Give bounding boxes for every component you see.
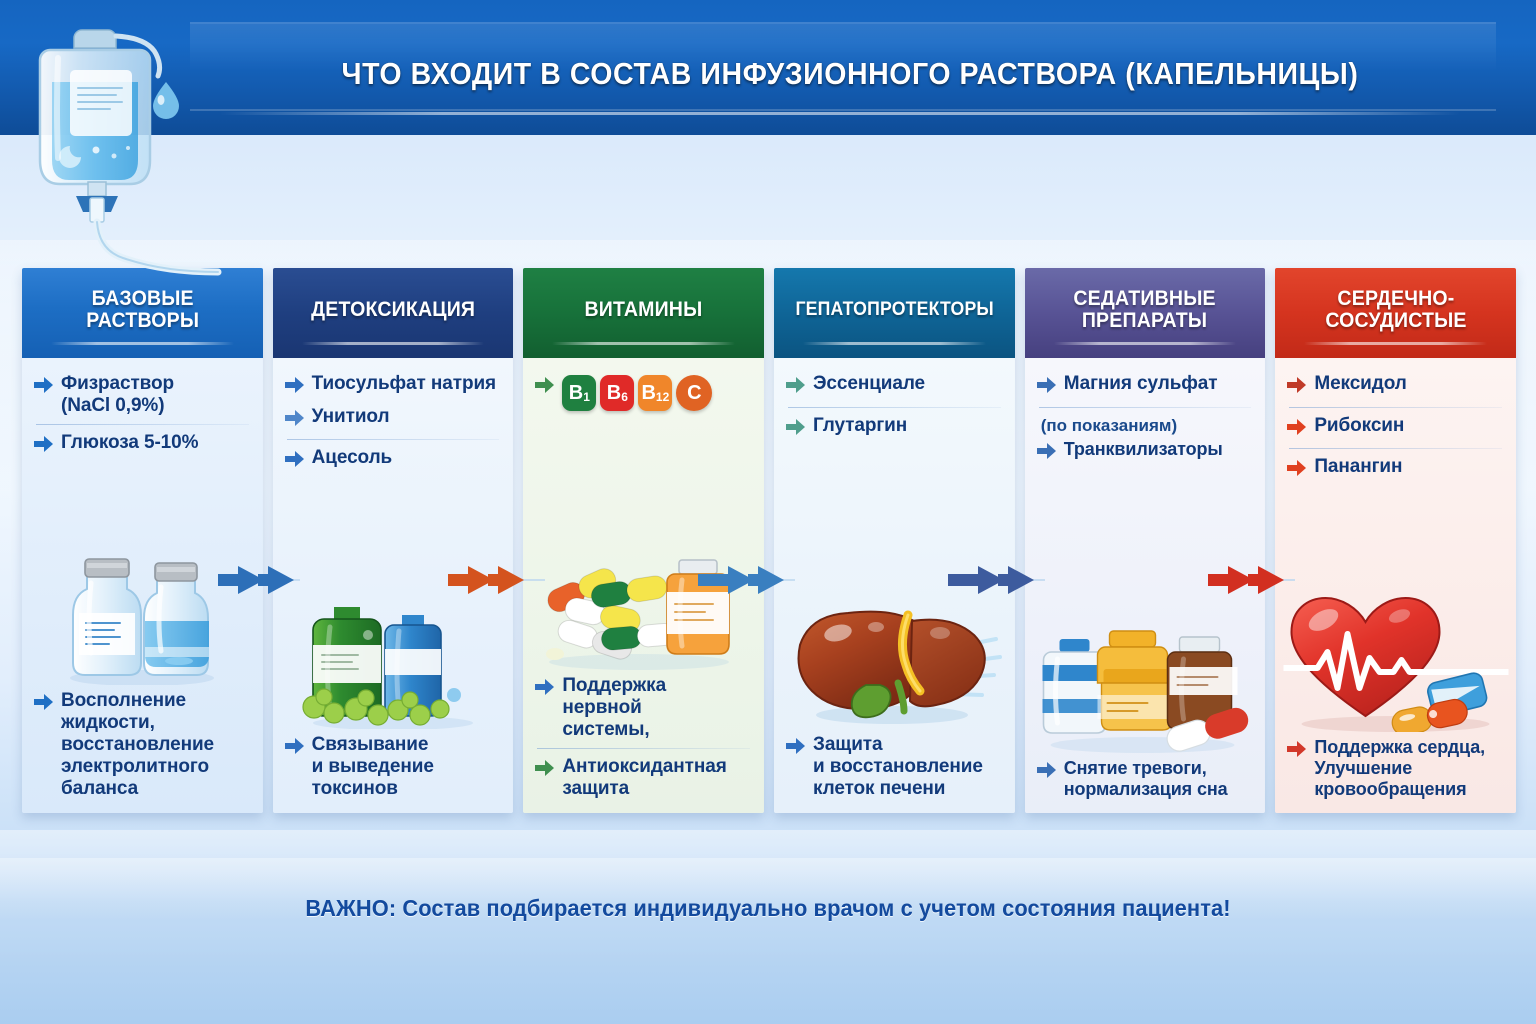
- list-item-label: Транквилизаторы: [1064, 439, 1223, 460]
- header-highlight: [302, 342, 485, 345]
- column-detoksikaciya[interactable]: ДЕТОКСИКАЦИЯ Тиосульфат натрия: [273, 268, 514, 813]
- column-bazovye-rastvory[interactable]: БАЗОВЫЕ РАСТВОРЫ Физраствор (NaCl 0,9%): [22, 268, 263, 813]
- header-highlight: [1054, 342, 1237, 345]
- arrow-bullet-icon: [786, 376, 806, 400]
- arrow-bullet-icon: [1037, 761, 1057, 785]
- column-header-bazovye-rastvory: БАЗОВЫЕ РАСТВОРЫ: [22, 268, 263, 358]
- benefit-item: Поддержка нервной системы,: [535, 672, 752, 744]
- column-body-serdechno-sosudistye: Мексидол Рибоксин Панангин: [1275, 358, 1516, 813]
- benefit-label: Снятие тревоги, нормализация сна: [1064, 758, 1228, 800]
- benefit-item: Связывание и выведение токсинов: [285, 731, 502, 803]
- benefit-item: Поддержка сердца, Улучшение кровообращен…: [1287, 734, 1504, 803]
- arrow-bullet-icon: [34, 435, 54, 459]
- list-item[interactable]: Транквилизаторы: [1037, 436, 1254, 469]
- divider: [788, 407, 1001, 408]
- vitamin-badge-b1: B1: [562, 375, 596, 411]
- arrow-bullet-icon: [786, 418, 806, 442]
- column-footer-bazovye-rastvory: Восполнение жидкости, восстановление эле…: [34, 687, 251, 803]
- liver-icon: [786, 446, 1003, 729]
- header-highlight: [803, 342, 986, 345]
- column-vitaminy[interactable]: ВИТАМИНЫ B1 B6 B12 C: [523, 268, 764, 813]
- divider: [1289, 448, 1502, 449]
- column-title: СЕРДЕЧНО- СОСУДИСТЫЕ: [1325, 288, 1466, 333]
- list-item[interactable]: Мексидол: [1287, 370, 1504, 403]
- list-item-label: Эссенциале: [813, 373, 925, 395]
- list-item[interactable]: Эссенциале: [786, 370, 1003, 403]
- list-item-label: Глюкоза 5-10%: [61, 432, 198, 454]
- list-item[interactable]: Ацесоль: [285, 444, 502, 477]
- column-header-vitaminy: ВИТАМИНЫ: [523, 268, 764, 358]
- benefit-item: Восполнение жидкости, восстановление эле…: [34, 687, 251, 803]
- arrow-bullet-icon: [535, 678, 555, 702]
- column-body-bazovye-rastvory: Физраствор (NaCl 0,9%) Глюкоза 5-10%: [22, 358, 263, 813]
- benefit-item: Антиоксидантная защита: [535, 753, 752, 803]
- column-sedativnye-preparaty[interactable]: СЕДАТИВНЫЕ ПРЕПАРАТЫ Магния сульфат (по …: [1025, 268, 1266, 813]
- column-gepatoprotektory[interactable]: ГЕПАТОПРОТЕКТОРЫ Эссенциале: [774, 268, 1015, 813]
- header-highlight: [1304, 342, 1487, 345]
- vitamin-badge-c: C: [676, 375, 712, 411]
- divider: [36, 424, 249, 425]
- infographic-canvas: ЧТО ВХОДИТ В СОСТАВ ИНФУЗИОННОГО РАСТВОР…: [0, 0, 1536, 1024]
- column-title: СЕДАТИВНЫЕ ПРЕПАРАТЫ: [1074, 288, 1216, 333]
- detox-bottles-icon: [285, 479, 502, 729]
- iv-drip-bag-icon: [18, 8, 228, 278]
- arrow-bullet-icon: [34, 693, 54, 717]
- arrow-bullet-icon: [1287, 740, 1307, 764]
- column-title: ДЕТОКСИКАЦИЯ: [311, 299, 475, 321]
- arrow-bullet-icon: [535, 759, 555, 783]
- column-title: ГЕПАТОПРОТЕКТОРЫ: [795, 300, 993, 320]
- divider: [537, 748, 750, 749]
- vitamin-badge-b6: B6: [600, 375, 634, 411]
- list-item[interactable]: Глутаргин: [786, 412, 1003, 445]
- arrow-bullet-icon: [535, 376, 555, 400]
- column-footer-vitaminy: Поддержка нервной системы, Антиоксидантн…: [535, 672, 752, 803]
- column-body-detoksikaciya: Тиосульфат натрия Унитиол Ацесоль: [273, 358, 514, 813]
- column-footer-gepatoprotektory: Защита и восстановление клеток печени: [786, 731, 1003, 803]
- arrow-bullet-icon: [285, 450, 305, 474]
- column-footer-serdechno-sosudistye: Поддержка сердца, Улучшение кровообращен…: [1287, 734, 1504, 803]
- arrow-bullet-icon: [1287, 376, 1307, 400]
- column-footer-sedativnye-preparaty: Снятие тревоги, нормализация сна: [1037, 755, 1254, 803]
- arrow-bullet-icon: [285, 376, 305, 400]
- vitamin-badge-b12: B12: [638, 375, 672, 411]
- list-item-label: Унитиол: [312, 406, 390, 428]
- benefit-item: Защита и восстановление клеток печени: [786, 731, 1003, 803]
- column-header-detoksikaciya: ДЕТОКСИКАЦИЯ: [273, 268, 514, 358]
- list-item-label: Тиосульфат натрия: [312, 373, 496, 395]
- header-highlight: [552, 342, 735, 345]
- benefit-label: Связывание и выведение токсинов: [312, 734, 434, 800]
- list-item[interactable]: Унитиол: [285, 403, 502, 436]
- drug-list: Тиосульфат натрия Унитиол Ацесоль: [285, 370, 502, 477]
- list-item-label: Ацесоль: [312, 447, 392, 469]
- list-item[interactable]: Глюкоза 5-10%: [34, 429, 251, 462]
- page-title: ЧТО ВХОДИТ В СОСТАВ ИНФУЗИОННОГО РАСТВОР…: [257, 56, 1444, 92]
- divider: [1039, 407, 1252, 408]
- list-item[interactable]: B1 B6 B12 C: [535, 370, 752, 414]
- arrow-bullet-icon: [1287, 418, 1307, 442]
- benefit-label: Восполнение жидкости, восстановление эле…: [61, 690, 214, 800]
- arrow-bullet-icon: [1037, 442, 1057, 466]
- vitamin-badge-list: B1 B6 B12 C: [535, 370, 752, 414]
- arrow-bullet-icon: [285, 737, 305, 761]
- list-item-label: Физраствор (NaCl 0,9%): [61, 373, 174, 417]
- list-item-label: Рибоксин: [1314, 415, 1404, 437]
- list-item-label: Магния сульфат: [1064, 373, 1218, 395]
- drug-list: Эссенциале Глутаргин: [786, 370, 1003, 444]
- benefit-item: Снятие тревоги, нормализация сна: [1037, 755, 1254, 803]
- column-title: ВИТАМИНЫ: [585, 299, 703, 321]
- benefit-label: Поддержка сердца, Улучшение кровообращен…: [1314, 737, 1485, 800]
- important-note: ВАЖНО: Состав подбирается индивидуально …: [38, 895, 1497, 922]
- drug-list: Физраствор (NaCl 0,9%) Глюкоза 5-10%: [34, 370, 251, 462]
- header-highlight: [51, 342, 234, 345]
- benefit-label: Защита и восстановление клеток печени: [813, 734, 983, 800]
- list-item[interactable]: Тиосульфат натрия: [285, 370, 502, 403]
- divider: [1289, 407, 1502, 408]
- indication-note: (по показаниям): [1037, 412, 1254, 436]
- arrow-bullet-icon: [34, 376, 54, 400]
- list-item[interactable]: Физраствор (NaCl 0,9%): [34, 370, 251, 420]
- list-item-label: Мексидол: [1314, 373, 1406, 395]
- arrow-bullet-icon: [786, 737, 806, 761]
- benefit-label: Антиоксидантная защита: [562, 756, 726, 800]
- column-header-sedativnye-preparaty: СЕДАТИВНЫЕ ПРЕПАРАТЫ: [1025, 268, 1266, 358]
- column-title: БАЗОВЫЕ РАСТВОРЫ: [86, 288, 199, 333]
- list-item[interactable]: Рибоксин: [1287, 412, 1504, 445]
- drug-list: Магния сульфат (по показаниям) Транквили…: [1037, 370, 1254, 468]
- two-vials-icon: [34, 464, 251, 685]
- category-columns: БАЗОВЫЕ РАСТВОРЫ Физраствор (NaCl 0,9%): [22, 268, 1516, 813]
- heart-ecg-icon: [1287, 488, 1504, 733]
- arrow-bullet-icon: [1287, 459, 1307, 483]
- column-header-serdechno-sosudistye: СЕРДЕЧНО- СОСУДИСТЫЕ: [1275, 268, 1516, 358]
- column-body-sedativnye-preparaty: Магния сульфат (по показаниям) Транквили…: [1025, 358, 1266, 813]
- column-serdechno-sosudistye[interactable]: СЕРДЕЧНО- СОСУДИСТЫЕ Мексидол: [1275, 268, 1516, 813]
- vitamin-badges: B1 B6 B12 C: [562, 373, 712, 411]
- arrow-bullet-icon: [1037, 376, 1057, 400]
- medicine-bottles-icon: [1037, 470, 1254, 753]
- benefit-label: Поддержка нервной системы,: [562, 675, 666, 741]
- column-body-vitaminy: B1 B6 B12 C: [523, 358, 764, 813]
- header-underline: [220, 112, 1460, 115]
- capsules-and-bottle-icon: [535, 416, 752, 670]
- divider: [287, 439, 500, 440]
- list-item-label: Панангин: [1314, 456, 1402, 478]
- list-item[interactable]: Магния сульфат: [1037, 370, 1254, 403]
- list-item-label: Глутаргин: [813, 415, 907, 437]
- column-header-gepatoprotektory: ГЕПАТОПРОТЕКТОРЫ: [774, 268, 1015, 358]
- column-body-gepatoprotektory: Эссенциале Глутаргин: [774, 358, 1015, 813]
- arrow-bullet-icon: [285, 409, 305, 433]
- column-footer-detoksikaciya: Связывание и выведение токсинов: [285, 731, 502, 803]
- list-item[interactable]: Панангин: [1287, 453, 1504, 486]
- drug-list: Мексидол Рибоксин Панангин: [1287, 370, 1504, 486]
- header-band: ЧТО ВХОДИТ В СОСТАВ ИНФУЗИОННОГО РАСТВОР…: [0, 0, 1536, 135]
